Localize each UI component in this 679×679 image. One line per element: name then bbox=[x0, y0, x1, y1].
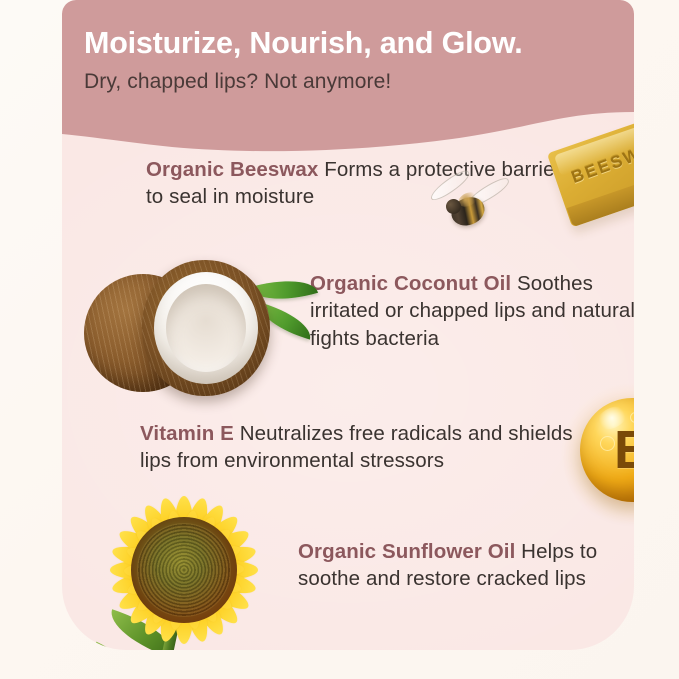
ingredient-text: Vitamin E Neutralizes free radicals and … bbox=[140, 420, 590, 475]
ingredient-sunflower-oil: Organic Sunflower Oil Helps to soothe an… bbox=[298, 538, 634, 593]
coconut-image bbox=[80, 252, 320, 402]
ingredient-label: Organic Sunflower Oil bbox=[298, 540, 515, 563]
ingredient-label: Organic Coconut Oil bbox=[310, 272, 511, 295]
vitamin-e-capsule-image: E bbox=[570, 392, 634, 516]
bee-image bbox=[434, 182, 504, 244]
page-background: Moisturize, Nourish, and Glow. Dry, chap… bbox=[0, 0, 679, 679]
ingredient-text: Organic Coconut Oil Soothes irritated or… bbox=[310, 270, 634, 352]
capsule-bubble-icon bbox=[630, 412, 634, 423]
ingredients-panel: Moisturize, Nourish, and Glow. Dry, chap… bbox=[62, 0, 634, 650]
sunflower-image bbox=[84, 494, 294, 650]
ingredient-vitamin-e: Vitamin E Neutralizes free radicals and … bbox=[140, 420, 590, 475]
page-subtitle: Dry, chapped lips? Not anymore! bbox=[84, 70, 634, 94]
sunflower-center bbox=[131, 517, 237, 623]
beeswax-bar-image: BEESWAX bbox=[548, 112, 634, 242]
ingredient-label: Organic Beeswax bbox=[146, 158, 318, 181]
coconut-half bbox=[142, 260, 270, 396]
capsule-bubble-icon bbox=[600, 436, 615, 451]
coconut-hollow bbox=[166, 284, 246, 372]
ingredient-label: Vitamin E bbox=[140, 422, 234, 445]
page-title: Moisturize, Nourish, and Glow. bbox=[84, 26, 634, 61]
ingredient-text: Organic Sunflower Oil Helps to soothe an… bbox=[298, 538, 634, 593]
beeswax-bar: BEESWAX bbox=[547, 111, 634, 228]
ingredient-coconut-oil: Organic Coconut Oil Soothes irritated or… bbox=[310, 270, 634, 352]
